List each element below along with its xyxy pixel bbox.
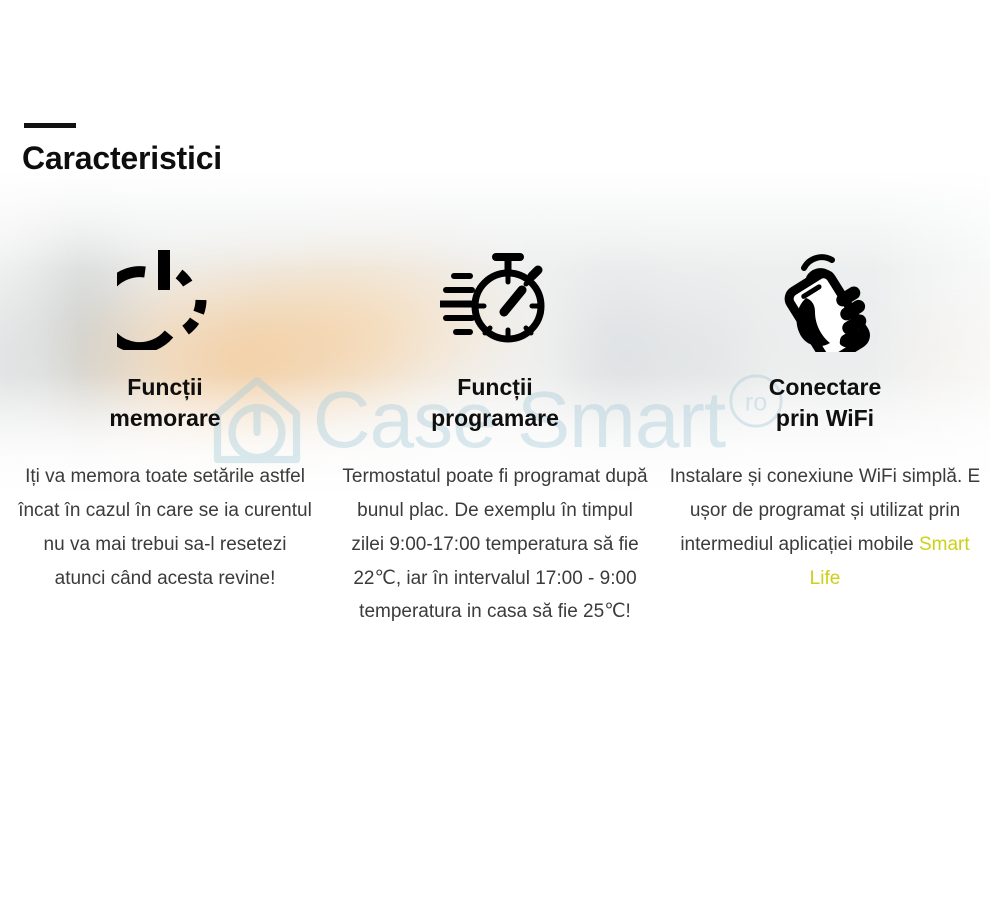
feature-card-memory: Funcții memorare Iți va memora toate set…	[0, 236, 330, 629]
page-title: Caracteristici	[22, 140, 222, 177]
feature-body-programming: Termostatul poate fi programat după bunu…	[330, 460, 660, 629]
feature-body-wifi: Instalare și conexiune WiFi simplă. E uș…	[660, 460, 990, 595]
features-page: Case Smart ro Caracteristici	[0, 0, 990, 900]
stopwatch-timer-icon	[440, 236, 550, 360]
power-standby-icon	[117, 236, 213, 360]
feature-body-memory: Iți va memora toate setările astfel înca…	[0, 460, 330, 595]
title-accent-bar	[24, 123, 76, 128]
feature-title-programming: Funcții programare	[431, 372, 559, 434]
features-row: Funcții memorare Iți va memora toate set…	[0, 236, 990, 629]
feature-card-programming: Funcții programare Termostatul poate fi …	[330, 236, 660, 629]
feature-title-wifi: Conectare prin WiFi	[769, 372, 881, 434]
hand-holding-phone-wifi-icon	[773, 236, 877, 360]
feature-card-wifi: Conectare prin WiFi Instalare și conexiu…	[660, 236, 990, 629]
feature-title-memory: Funcții memorare	[109, 372, 220, 434]
